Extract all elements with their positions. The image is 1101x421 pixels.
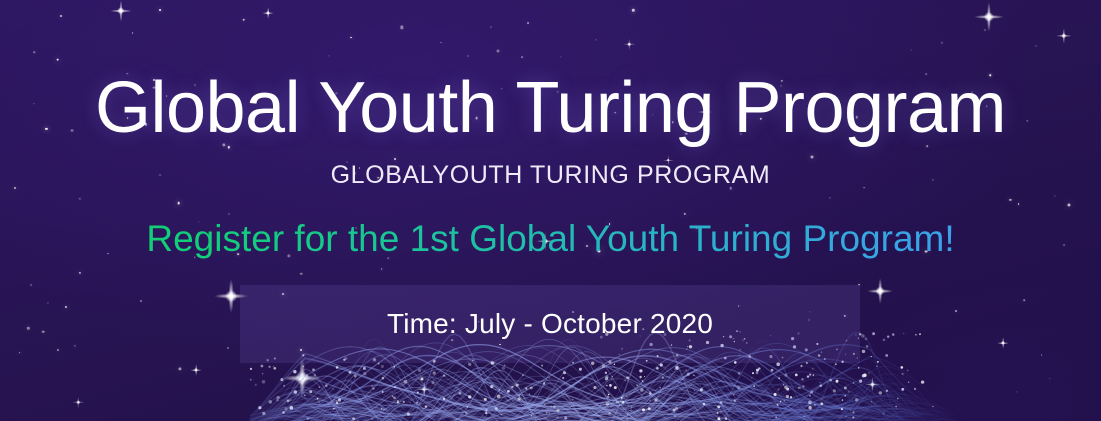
event-time-label: Time: July - October 2020 <box>387 308 713 340</box>
page-title: Global Youth Turing Program <box>0 72 1101 144</box>
registration-tagline: Register for the 1st Global Youth Turing… <box>0 218 1101 261</box>
page-subtitle: GLOBALYOUTH TURING PROGRAM <box>0 160 1101 190</box>
banner-content: Global Youth Turing Program GLOBALYOUTH … <box>0 0 1101 421</box>
hero-banner: Global Youth Turing Program GLOBALYOUTH … <box>0 0 1101 421</box>
event-time-box: Time: July - October 2020 <box>240 285 860 363</box>
